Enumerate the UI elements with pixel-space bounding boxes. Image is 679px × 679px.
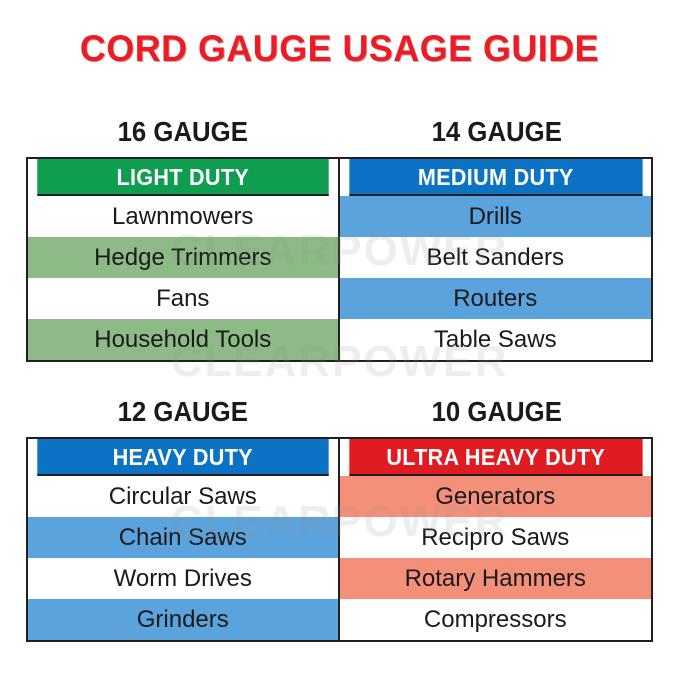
table-row: Chain Saws <box>28 517 338 558</box>
duty-header-light: LIGHT DUTY <box>37 159 328 196</box>
cord-gauge-usage-guide: CORD GAUGE USAGE GUIDE CLEARPOWER CLEARP… <box>0 0 679 679</box>
table-row: Hedge Trimmers <box>28 237 338 278</box>
gauge-column-12: HEAVY DUTY Circular Saws Chain Saws Worm… <box>28 439 340 640</box>
gauge-column-14: MEDIUM DUTY Drills Belt Sanders Routers … <box>340 159 652 360</box>
gauge-block-top: 16 GAUGE 14 GAUGE LIGHT DUTY Lawnmowers … <box>0 112 679 362</box>
duty-header-heavy: HEAVY DUTY <box>37 439 328 476</box>
gauge-label-14: 14 GAUGE <box>352 112 640 157</box>
table-row: Rotary Hammers <box>340 558 652 599</box>
table-row: Lawnmowers <box>28 196 338 237</box>
gauge-label-row: 12 GAUGE 10 GAUGE <box>26 392 653 437</box>
gauge-label-row: 16 GAUGE 14 GAUGE <box>26 112 653 157</box>
gauge-label-16: 16 GAUGE <box>39 112 327 157</box>
gauge-block-bottom: 12 GAUGE 10 GAUGE HEAVY DUTY Circular Sa… <box>0 392 679 642</box>
table-row: Compressors <box>340 599 652 640</box>
table-row: Grinders <box>28 599 338 640</box>
table-row: Worm Drives <box>28 558 338 599</box>
table-row: Table Saws <box>340 319 652 360</box>
table-row: Recipro Saws <box>340 517 652 558</box>
table-row: Generators <box>340 476 652 517</box>
page-title: CORD GAUGE USAGE GUIDE <box>10 28 669 70</box>
gauge-table-top: LIGHT DUTY Lawnmowers Hedge Trimmers Fan… <box>26 157 653 362</box>
table-row: Routers <box>340 278 652 319</box>
duty-header-ultra-heavy: ULTRA HEAVY DUTY <box>349 439 642 476</box>
table-row: Fans <box>28 278 338 319</box>
gauge-column-16: LIGHT DUTY Lawnmowers Hedge Trimmers Fan… <box>28 159 340 360</box>
table-row: Drills <box>340 196 652 237</box>
table-row: Belt Sanders <box>340 237 652 278</box>
gauge-label-10: 10 GAUGE <box>352 392 640 437</box>
table-row: Circular Saws <box>28 476 338 517</box>
gauge-column-10: ULTRA HEAVY DUTY Generators Recipro Saws… <box>340 439 652 640</box>
gauge-label-12: 12 GAUGE <box>39 392 327 437</box>
table-row: Household Tools <box>28 319 338 360</box>
gauge-table-bottom: HEAVY DUTY Circular Saws Chain Saws Worm… <box>26 437 653 642</box>
duty-header-medium: MEDIUM DUTY <box>349 159 642 196</box>
